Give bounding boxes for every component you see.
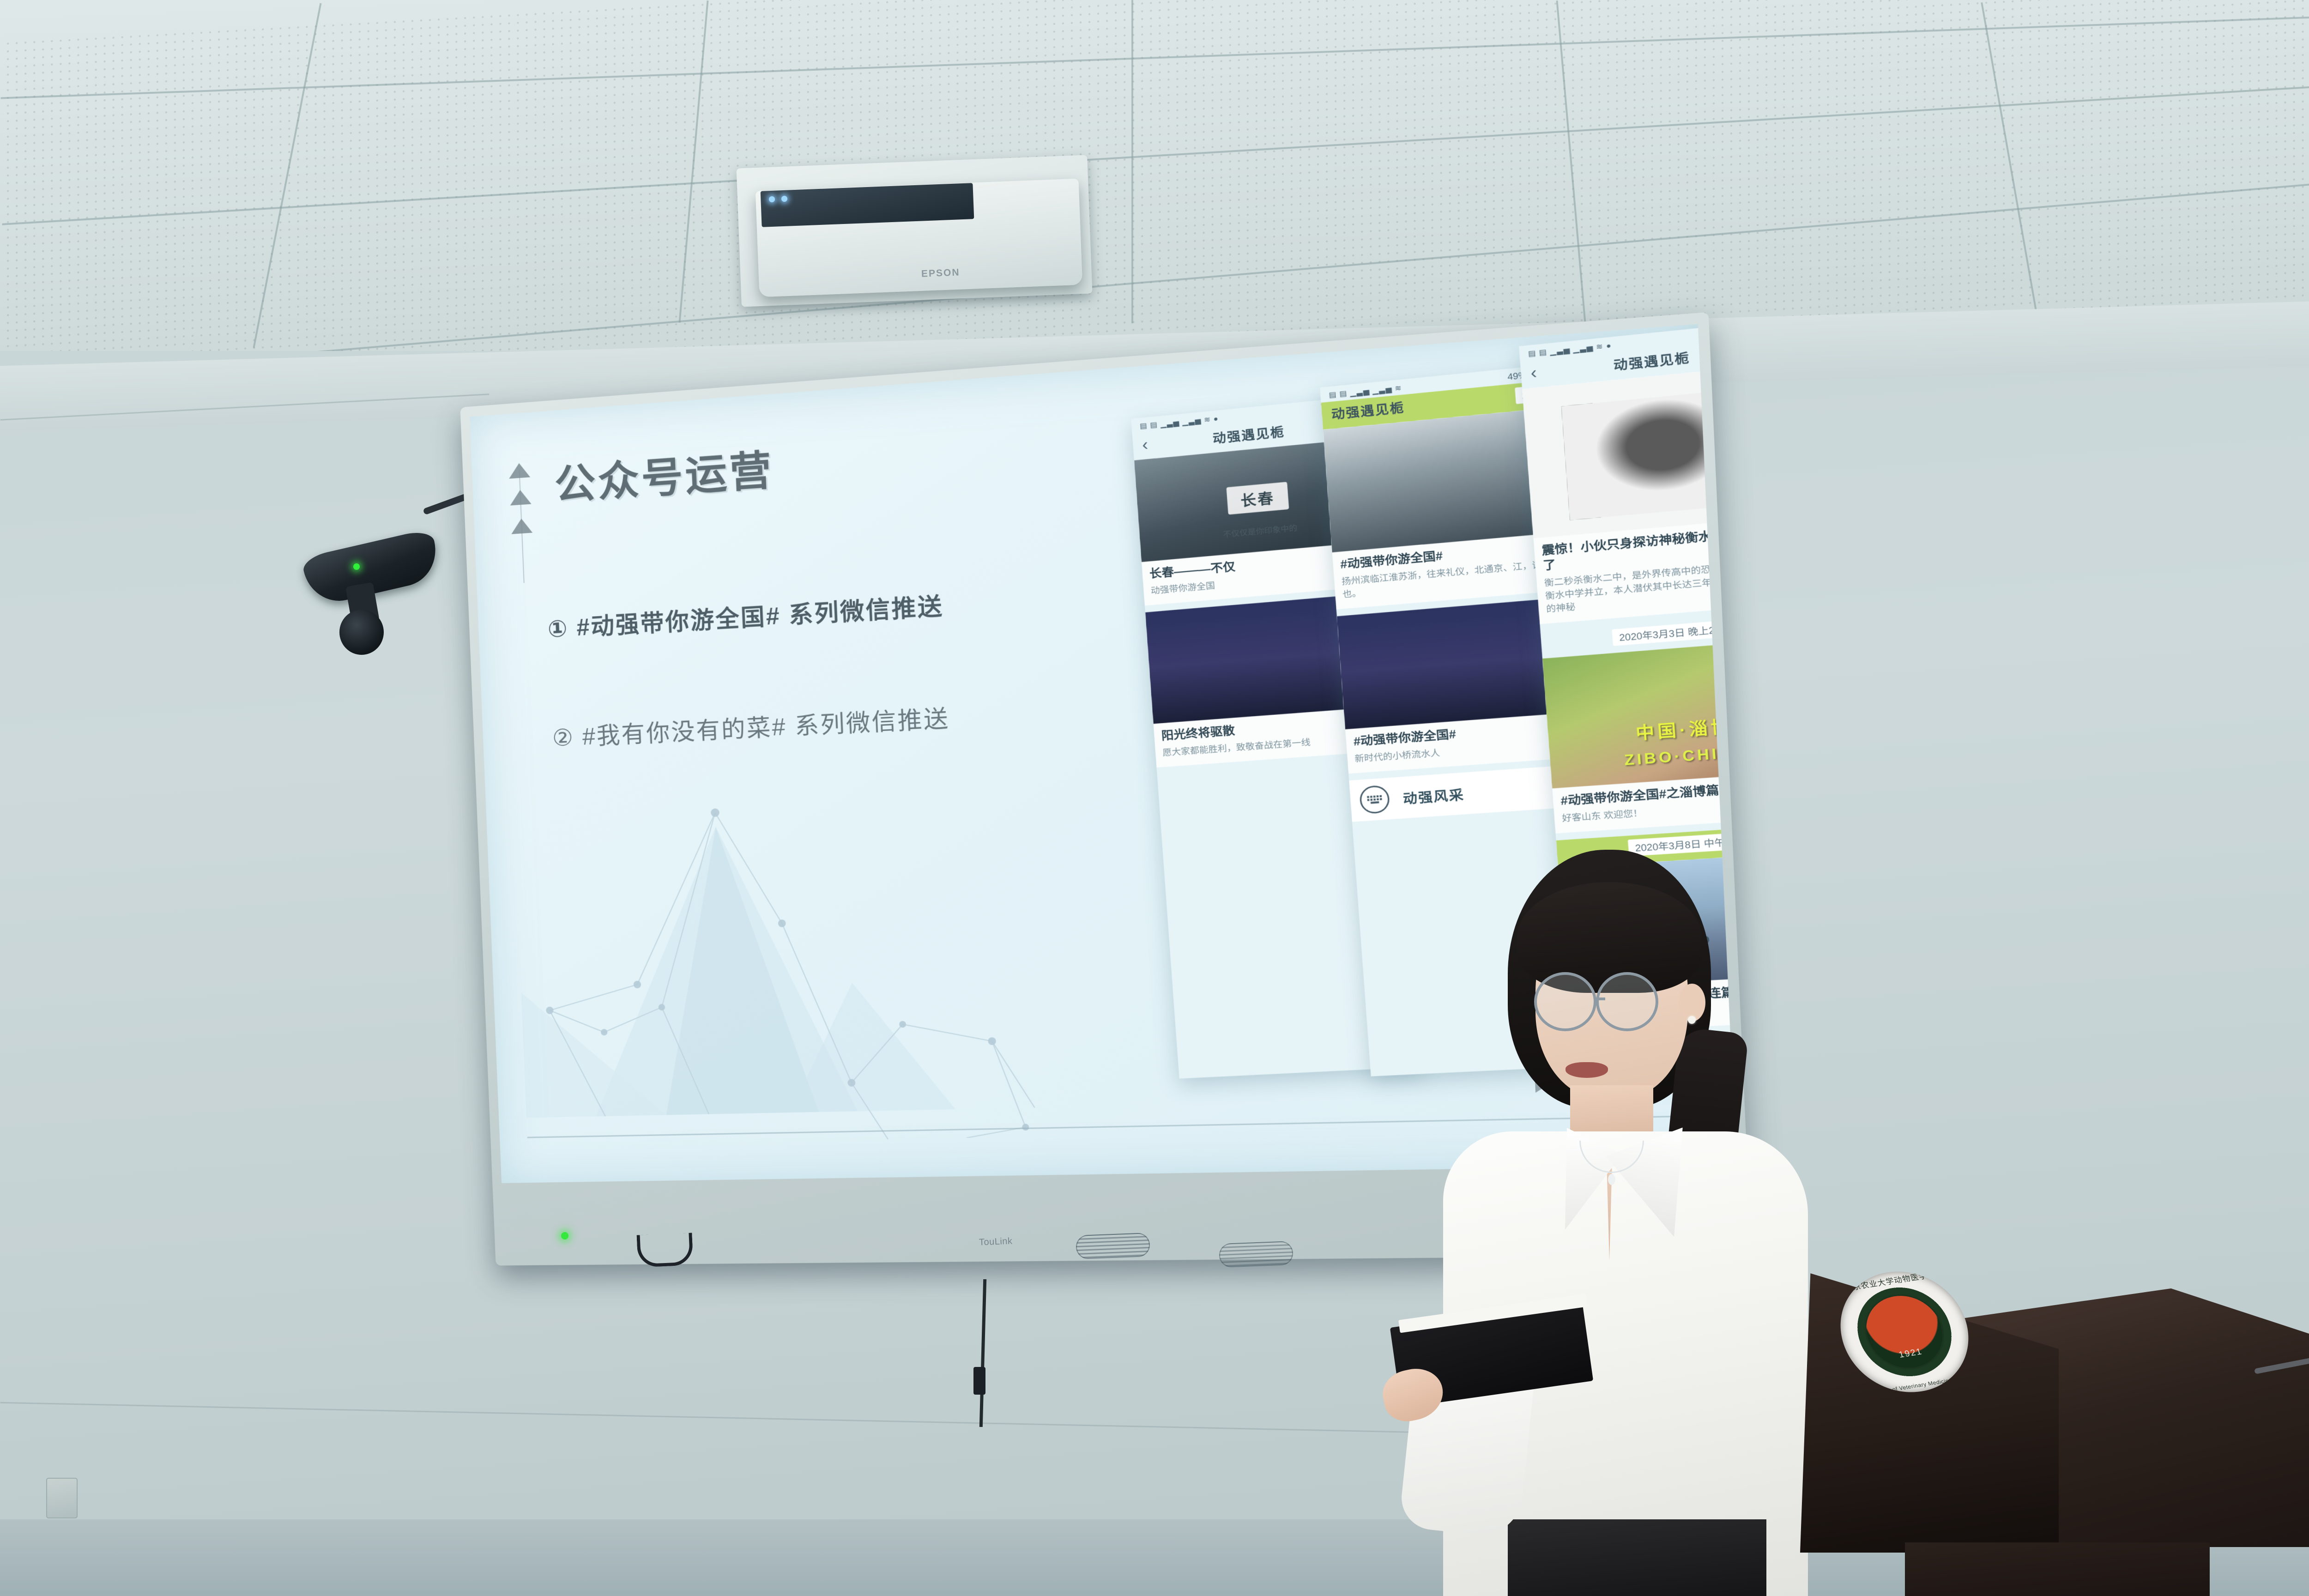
article-image-en-label: ZIBO·CHINA [1624, 744, 1736, 769]
bullet-text-2: #我有你没有的菜# 系列微信推送 [582, 705, 950, 750]
glasses-bridge [1595, 997, 1605, 1000]
whiteboard-speaker-grille [1076, 1233, 1150, 1259]
whiteboard-brand-logo: TouLink [979, 1236, 1013, 1248]
podium-base [1905, 1542, 2210, 1596]
slide-bullet-2: ② #我有你没有的菜# 系列微信推送 [551, 700, 950, 753]
article-image-label: 长春 [1226, 482, 1289, 514]
classroom-photo: EPSON 公众号运营 [0, 0, 2309, 1596]
title-triangle-decoration [508, 462, 533, 546]
projector-status-led [781, 196, 787, 202]
article-card[interactable]: 震惊！小伙只身探访神秘衡水高中，竟然变了 衡二秒杀衡水二中，是外界传高中的恐惧，… [1522, 362, 1736, 624]
article-image: 中国·淄博 ZIBO·CHINA [1542, 637, 1736, 788]
whiteboard-cable-plug [973, 1367, 985, 1395]
chevron-left-icon[interactable]: ‹ [1142, 436, 1148, 453]
mountain-decoration [513, 770, 1056, 1146]
triangle-icon [511, 518, 532, 534]
lectern-podium: 南京农业大学动物医学院 1921 College of Veterinary M… [1792, 1219, 2309, 1596]
wall-outlet[interactable] [46, 1478, 78, 1518]
article-card[interactable]: 中国·淄博 ZIBO·CHINA #动强带你游全国#之淄博篇 好客山东 欢迎您！ [1542, 637, 1736, 834]
presenter-hair-front [1517, 882, 1702, 993]
triangle-icon [508, 462, 530, 478]
chevron-left-icon[interactable]: ‹ [1530, 364, 1537, 381]
slide-bullet-1: ① #动强带你游全国# 系列微信推送 [547, 587, 944, 644]
glasses-lens-left [1534, 972, 1596, 1031]
article-date: 2020年3月3日 晚上22:36 [1612, 619, 1736, 646]
article-image-sublabel: 不仅仅是你印象中的 [1222, 521, 1297, 540]
projector-status-led [769, 196, 775, 202]
necklace-pendant [1608, 1174, 1615, 1185]
phone-header-title: 动强遇见栀 [1212, 422, 1286, 447]
emblem-chinese-text: 南京农业大学动物医学院 [1843, 1268, 1937, 1293]
phone-header-title: 动强遇见栀 [1613, 348, 1690, 374]
presenter-skirt [1508, 1519, 1766, 1596]
presenter-lips [1566, 1062, 1608, 1078]
article-image-cn-label: 中国·淄博 [1635, 713, 1734, 744]
slide-title: 公众号运营 [553, 436, 775, 511]
presenter-earring [1688, 1016, 1696, 1024]
article-image [1522, 362, 1736, 538]
camera-lens [339, 610, 384, 655]
bullet-marker-1: ① [547, 615, 569, 642]
feature-label: 动强风采 [1402, 784, 1465, 807]
whiteboard-power-led [561, 1232, 568, 1239]
phone-header-title: 动强遇见栀 [1330, 398, 1405, 423]
bullet-text-1: #动强带你游全国# 系列微信推送 [576, 593, 944, 641]
triangle-icon [509, 489, 531, 505]
keyboard-icon[interactable] [1359, 785, 1390, 815]
whiteboard-speaker-grille [1219, 1241, 1294, 1268]
projector-brand-label: EPSON [921, 267, 960, 279]
camera-status-led [353, 563, 360, 570]
presenter [1427, 845, 1819, 1596]
ceiling-grid-line [1131, 0, 1133, 323]
glasses-lens-right [1596, 972, 1658, 1031]
bullet-marker-2: ② [552, 724, 575, 751]
article-image-figure [1561, 387, 1736, 520]
emblem-center [1857, 1290, 1951, 1373]
